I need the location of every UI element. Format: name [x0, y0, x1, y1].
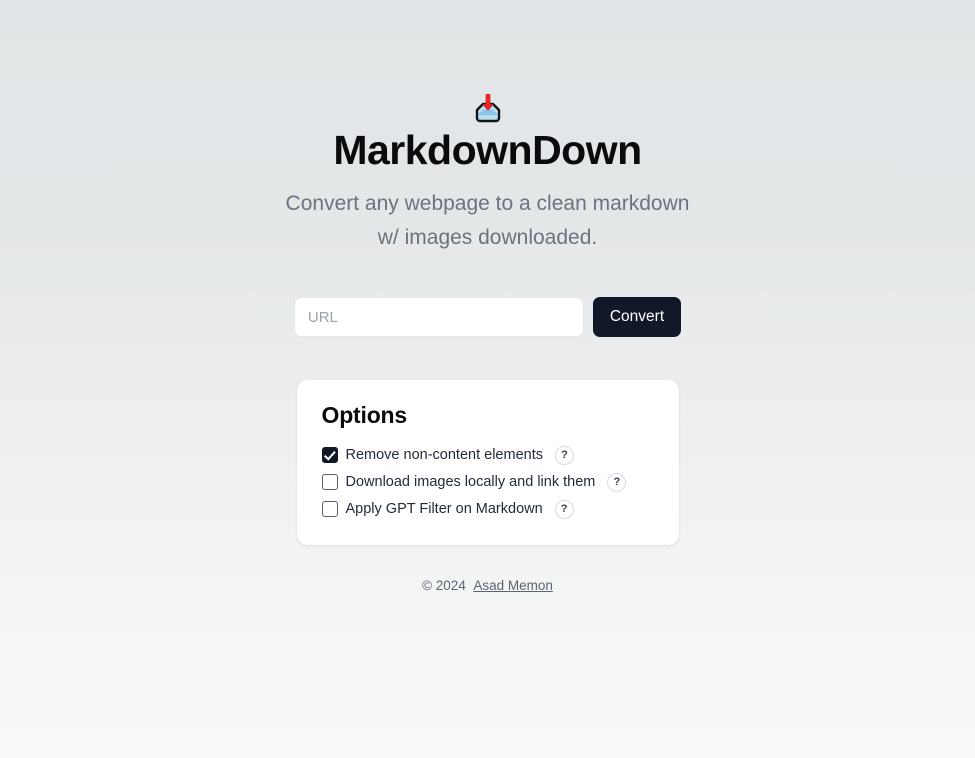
help-icon-remove-non-content[interactable]: ? [555, 446, 574, 465]
checkbox-gpt-filter[interactable] [322, 501, 338, 517]
option-label-download-images: Download images locally and link them [346, 472, 596, 492]
footer: © 2024 Asad Memon [422, 578, 553, 593]
option-row-download-images: Download images locally and link them ? [322, 472, 654, 492]
checkbox-download-images[interactable] [322, 474, 338, 490]
options-card: Options Remove non-content elements ? Do… [297, 380, 679, 545]
url-input[interactable] [294, 297, 584, 337]
convert-button[interactable]: Convert [593, 297, 681, 337]
option-label-gpt-filter: Apply GPT Filter on Markdown [346, 499, 543, 519]
option-label-remove-non-content: Remove non-content elements [346, 445, 543, 465]
footer-copyright: © 2024 [422, 578, 466, 593]
footer-author-link[interactable]: Asad Memon [473, 578, 553, 593]
page-subtitle: Convert any webpage to a clean markdown … [273, 187, 703, 255]
options-heading: Options [322, 402, 654, 429]
options-list: Remove non-content elements ? Download i… [322, 445, 654, 519]
logo [469, 92, 507, 126]
page-title: MarkdownDown [333, 130, 641, 171]
option-row-remove-non-content: Remove non-content elements ? [322, 445, 654, 465]
download-tray-icon [469, 92, 507, 126]
converter-form: Convert [294, 297, 681, 337]
checkbox-remove-non-content[interactable] [322, 447, 338, 463]
option-row-gpt-filter: Apply GPT Filter on Markdown ? [322, 499, 654, 519]
help-icon-gpt-filter[interactable]: ? [555, 500, 574, 519]
app-page: MarkdownDown Convert any webpage to a cl… [0, 0, 975, 758]
help-icon-download-images[interactable]: ? [607, 473, 626, 492]
